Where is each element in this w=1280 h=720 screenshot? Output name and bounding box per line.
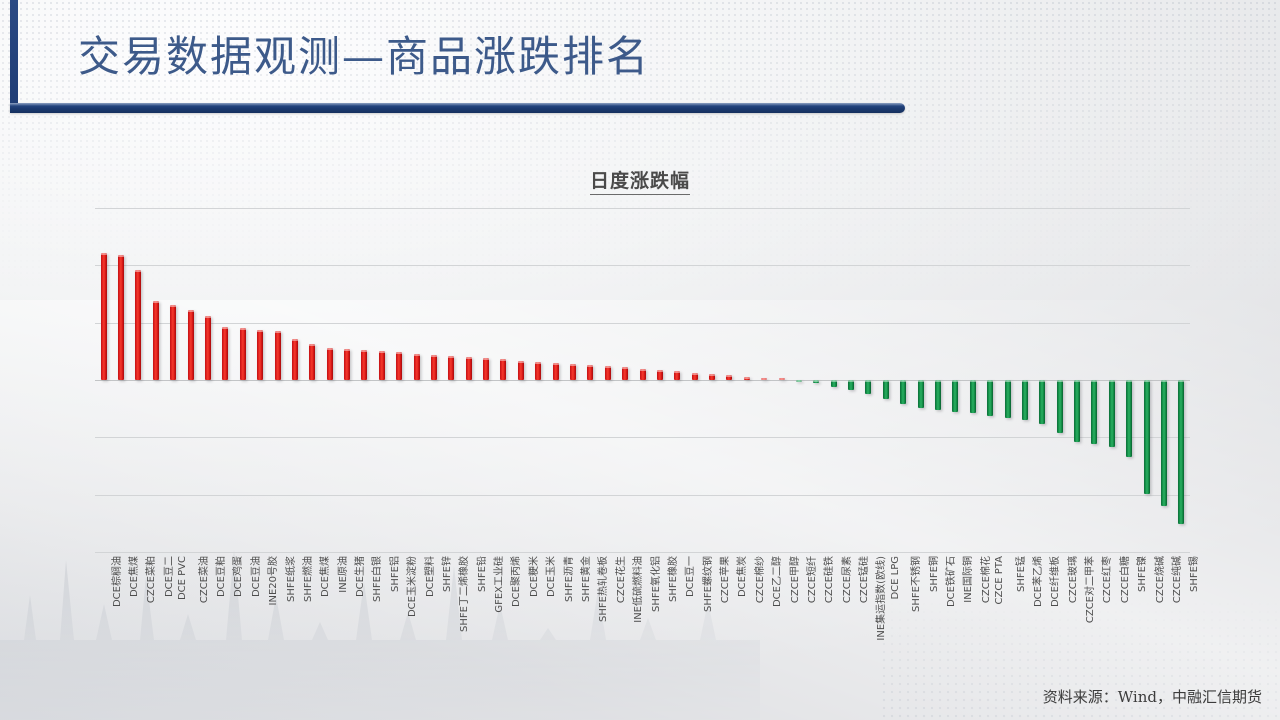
bar [327,348,333,380]
bar [761,378,767,380]
bar [622,367,628,380]
chart-title-text: 日度涨跌幅 [590,170,690,195]
x-axis-label: SHFE镍 [1133,556,1148,592]
bar-highlight [361,350,367,352]
x-axis-label: DCE焦煤 [125,556,140,597]
x-axis-label: DCE纤维板 [1046,556,1061,607]
bar-highlight [674,371,680,373]
x-axis-label: SHFE白银 [368,556,383,602]
bar [292,339,298,380]
x-axis-label: CZCE锰硅 [855,556,870,603]
bar-highlight [518,361,524,363]
x-axis-label: DCE玉米 [542,556,557,597]
bar [205,316,211,380]
bar [605,366,611,380]
bar [1109,380,1115,447]
x-axis-label: DCE聚丙烯 [507,556,522,607]
bar [674,371,680,380]
bar-highlight [170,305,176,307]
x-axis-label: SHFE燃油 [299,556,314,602]
bar [170,305,176,380]
bar-highlight [535,362,541,364]
x-axis-label: CZCE花生 [612,556,627,603]
header-underline-highlight [10,103,905,106]
bar-highlight [865,380,871,382]
bar [1091,380,1097,444]
bar-highlight [692,373,698,375]
x-axis-label: CZCE甲醇 [786,556,801,603]
bar-highlight [396,352,402,354]
x-axis-label: SHFE螺纹钢 [699,556,714,612]
bar-highlight [587,365,593,367]
x-axis-label: CZCE菜粕 [142,556,157,603]
bar-highlight [918,380,924,382]
bar [275,331,281,380]
bar [257,330,263,380]
bar-highlight [709,374,715,376]
gridline--3 [95,552,1190,553]
bar-highlight [726,375,732,377]
chart-bars-layer [95,208,1190,552]
x-axis-label: DCE焦炭 [733,556,748,597]
bar [153,301,159,380]
bar [744,377,750,380]
bar-highlight [448,356,454,358]
bar [361,350,367,380]
bar-highlight [483,358,489,360]
x-axis-label: SHFE氧化铝 [647,556,662,612]
x-axis-label: SHFE丁二烯橡胶 [455,556,470,632]
bar [396,352,402,380]
bar [865,380,871,394]
bar-highlight [257,330,263,332]
x-axis-label: CZCE红枣 [1098,556,1113,603]
bar [1039,380,1045,424]
x-axis-label: DCE铁矿石 [942,556,957,607]
bar [518,361,524,380]
x-axis-label: DCE鸡蛋 [229,556,244,597]
bar-highlight [1178,380,1184,382]
bar-highlight [779,378,785,380]
x-axis-label: SHFE热轧卷板 [594,556,609,622]
bar [918,380,924,408]
bar [118,255,124,380]
bar [796,380,802,382]
x-axis-label: DCE生猪 [351,556,366,597]
bar-highlight [761,378,767,380]
x-axis-label: CZCE白糖 [1116,556,1131,603]
bar-highlight [135,270,141,272]
bar [188,310,194,380]
bar [344,349,350,380]
bar [831,380,837,387]
bar [848,380,854,390]
x-axis-label: CZCE纯碱 [1168,556,1183,603]
x-axis-label: INE国际铜 [959,556,974,603]
bar [900,380,906,404]
bar [414,354,420,380]
bar-highlight [500,359,506,361]
bar [726,375,732,380]
bar [222,327,228,380]
bar [483,358,489,380]
bar-highlight [1005,380,1011,382]
bar [1126,380,1132,457]
bar-highlight [344,349,350,351]
chart-x-axis-labels: DCE棕榈油DCE焦煤CZCE菜粕DCE豆二DCE PVCCZCE菜油DCE豆粕… [95,556,1190,696]
bar-highlight [952,380,958,382]
bar-highlight [1022,380,1028,382]
bar-highlight [1074,380,1080,382]
x-axis-label: SHFE铜 [925,556,940,592]
page-title: 交易数据观测—商品涨跌排名 [78,33,650,81]
header-left-accent-bar [10,0,18,113]
x-axis-label: DCE LPG [890,556,901,600]
bar [379,351,385,380]
bar [813,380,819,383]
bar [1057,380,1063,433]
chart-title: 日度涨跌幅 [0,166,1280,193]
bar-highlight [118,255,124,257]
bar [935,380,941,410]
x-axis-label: DCE豆粕 [212,556,227,597]
x-axis-label: CZCE硅铁 [820,556,835,603]
bar-highlight [431,355,437,357]
x-axis-label: INE原油 [334,556,349,593]
x-axis-label: INE低硫燃料油 [629,556,644,623]
bar-highlight [796,380,802,382]
x-axis-label: GFEX工业硅 [490,556,505,613]
bar-highlight [553,363,559,365]
bar [466,357,472,380]
bar-highlight [240,328,246,330]
bar [448,356,454,380]
bar-highlight [1144,380,1150,382]
bar-highlight [1126,380,1132,382]
x-axis-label: SHFE不锈钢 [907,556,922,612]
bar [135,270,141,380]
x-axis-label: CZCE PTA [994,556,1005,605]
bar [1005,380,1011,418]
bar [431,355,437,380]
x-axis-label: DCE豆油 [247,556,262,597]
bar [1144,380,1150,494]
bar-highlight [153,301,159,303]
x-axis-label: SHFE铅 [473,556,488,592]
bar-highlight [1091,380,1097,382]
bar-highlight [101,253,107,255]
x-axis-label: CZCE对二甲苯 [1081,556,1096,623]
bar [500,359,506,380]
bar [553,363,559,380]
x-axis-label: CZCE尿素 [838,556,853,603]
bar-highlight [813,380,819,382]
bar-highlight [1057,380,1063,382]
bar-highlight [970,380,976,382]
bar-highlight [848,380,854,382]
x-axis-label: INE20号胶 [264,556,279,605]
bar-highlight [900,380,906,382]
bar-highlight [414,354,420,356]
x-axis-label: SHFE铝 [386,556,401,592]
bar-highlight [744,377,750,379]
bar-highlight [379,351,385,353]
bar [535,362,541,380]
x-axis-label: CZCE棉花 [977,556,992,603]
bar-highlight [275,331,281,333]
bar-highlight [205,316,211,318]
bar-highlight [640,369,646,371]
x-axis-label: SHFE橡胶 [664,556,679,602]
bar-highlight [935,380,941,382]
bar-highlight [570,364,576,366]
x-axis-label: CZCE烧碱 [1151,556,1166,603]
bar-highlight [883,380,889,382]
x-axis-label: CZCE玻璃 [1064,556,1079,603]
x-axis-label: DCE玉米淀粉 [403,556,418,617]
x-axis-label: SHFE锌 [438,556,453,592]
x-axis-label: DCE塑料 [421,556,436,597]
bar-highlight [292,339,298,341]
bar [1178,380,1184,524]
bar-highlight [831,380,837,382]
bar [709,374,715,380]
x-axis-label: INE集运指数(欧线) [872,556,887,641]
bar-highlight [657,370,663,372]
bar [692,373,698,380]
bar-highlight [987,380,993,382]
bar-highlight [605,366,611,368]
bar [883,380,889,399]
bar [570,364,576,380]
x-axis-label: DCE棕榈油 [108,556,123,607]
x-axis-label: SHFE锡 [1185,556,1200,592]
x-axis-label: CZCE短纤 [803,556,818,603]
bar [987,380,993,416]
bar [1022,380,1028,420]
bar [970,380,976,413]
bar [952,380,958,412]
x-axis-label: SHFE黄金 [577,556,592,602]
x-axis-label: SHFE纸浆 [282,556,297,602]
bar-highlight [466,357,472,359]
bar-highlight [222,327,228,329]
x-axis-label: DCE豆二 [160,556,175,597]
bar-highlight [1109,380,1115,382]
bar-highlight [188,310,194,312]
bar [1074,380,1080,442]
x-axis-label: SHFE沥青 [560,556,575,602]
x-axis-label: DCE焦煤 [316,556,331,597]
bar [640,369,646,380]
x-axis-label: DCE PVC [177,556,188,600]
bar-highlight [1039,380,1045,382]
x-axis-label: CZCE棉纱 [751,556,766,603]
x-axis-label: DCE粳米 [525,556,540,597]
bar [587,365,593,380]
x-axis-label: DCE乙二醇 [768,556,783,607]
bar [1161,380,1167,506]
x-axis-label: DCE豆一 [681,556,696,597]
bar [657,370,663,380]
bar [240,328,246,380]
bar-highlight [327,348,333,350]
source-footnote: 资料来源：Wind，中融汇信期货 [1043,686,1262,707]
bar [309,344,315,380]
bar-highlight [1161,380,1167,382]
bar [101,253,107,380]
x-axis-label: CZCE菜油 [195,556,210,603]
bar-highlight [309,344,315,346]
bar-highlight [622,367,628,369]
x-axis-label: CZCE苹果 [716,556,731,603]
x-axis-label: SHFE锰 [1012,556,1027,592]
bar [779,378,785,380]
x-axis-label: DCE苯乙烯 [1029,556,1044,607]
